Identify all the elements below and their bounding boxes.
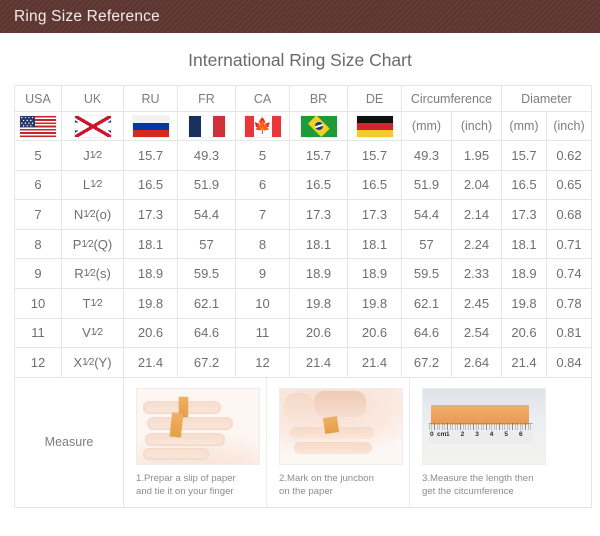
us-flag-icon <box>20 116 56 137</box>
cell-ru: 16.5 <box>124 170 178 200</box>
cell-ca: 12 <box>236 348 290 378</box>
ca-flag-icon: 🍁 <box>245 116 281 137</box>
table-row: 7N1⁄2(o)17.354.4717.317.354.42.1417.30.6… <box>15 200 592 230</box>
cell-circumference-inch: 2.45 <box>452 288 502 318</box>
column-header-fr: FR <box>178 86 236 112</box>
cell-diameter-mm: 17.3 <box>502 200 547 230</box>
cell-br: 16.5 <box>290 170 348 200</box>
table-row: 5J1⁄215.749.3515.715.749.31.9515.70.62 <box>15 141 592 171</box>
measure-steps-cell: 1.Prepar a slip of paper and tie it on y… <box>124 377 592 507</box>
ruler-ticks <box>429 423 533 430</box>
flag-cell-br <box>290 112 348 141</box>
cell-br: 17.3 <box>290 200 348 230</box>
flag-cell-ca: 🍁 <box>236 112 290 141</box>
unit-header-diameter-inch: (inch) <box>547 112 592 141</box>
uk-fraction: 1⁄2 <box>82 357 94 368</box>
flag-cell-fr <box>178 112 236 141</box>
cell-fr: 49.3 <box>178 141 236 171</box>
flag-cell-ru <box>124 112 178 141</box>
column-header-usa: USA <box>15 86 62 112</box>
cell-circumference-mm: 57 <box>402 229 452 259</box>
cell-diameter-inch: 0.65 <box>547 170 592 200</box>
br-flag-icon <box>301 116 337 137</box>
column-header-circumference: Circumference <box>402 86 502 112</box>
column-header-diameter: Diameter <box>502 86 592 112</box>
cell-diameter-mm: 18.9 <box>502 259 547 289</box>
cell-diameter-inch: 0.74 <box>547 259 592 289</box>
cell-uk: T1⁄2 <box>62 288 124 318</box>
cell-ru: 20.6 <box>124 318 178 348</box>
measure-label: Measure <box>15 377 124 507</box>
paper-strip <box>431 405 529 425</box>
ring-size-table: USA UK RU FR CA BR DE Circumference Diam… <box>14 85 592 508</box>
cell-ru: 18.1 <box>124 229 178 259</box>
ring-size-reference-page: Ring Size Reference International Ring S… <box>0 0 600 536</box>
step-1-caption: 1.Prepar a slip of paper and tie it on y… <box>136 473 266 499</box>
step-2-caption-line1: 2.Mark on the juncbon <box>279 473 374 484</box>
cell-diameter-inch: 0.81 <box>547 318 592 348</box>
table-row: 10T1⁄219.862.11019.819.862.12.4519.80.78 <box>15 288 592 318</box>
ruler-label-1: 1 <box>446 431 450 438</box>
cell-diameter-mm: 21.4 <box>502 348 547 378</box>
table-header-flag-row: 🍁 (mm) (inch) (mm) (inch) <box>15 112 592 141</box>
cell-circumference-inch: 2.64 <box>452 348 502 378</box>
uk-letter: V <box>82 325 91 340</box>
uk-fraction: 1⁄2 <box>90 298 102 309</box>
flag-cell-usa <box>15 112 62 141</box>
cell-fr: 64.6 <box>178 318 236 348</box>
ruler-label-2: 2 <box>461 431 465 438</box>
cell-uk: V1⁄2 <box>62 318 124 348</box>
column-header-de: DE <box>348 86 402 112</box>
cell-de: 16.5 <box>348 170 402 200</box>
cell-diameter-mm: 16.5 <box>502 170 547 200</box>
cell-ru: 19.8 <box>124 288 178 318</box>
cell-usa: 12 <box>15 348 62 378</box>
cell-diameter-mm: 15.7 <box>502 141 547 171</box>
step-3-caption-line1: 3.Measure the length then <box>422 473 533 484</box>
table-container: USA UK RU FR CA BR DE Circumference Diam… <box>0 85 600 508</box>
uk-fraction: 1⁄2 <box>90 150 102 161</box>
cell-usa: 5 <box>15 141 62 171</box>
step-2-caption-line2: on the paper <box>279 486 333 497</box>
cell-uk: X1⁄2(Y) <box>62 348 124 378</box>
cell-usa: 11 <box>15 318 62 348</box>
cell-de: 18.9 <box>348 259 402 289</box>
cell-ca: 6 <box>236 170 290 200</box>
uk-flag-icon <box>75 116 111 137</box>
cell-ca: 10 <box>236 288 290 318</box>
step-3-caption: 3.Measure the length then get the citcum… <box>422 473 552 499</box>
uk-fraction: 1⁄2 <box>81 239 93 250</box>
uk-suffix: (Q) <box>93 237 112 252</box>
cell-ru: 17.3 <box>124 200 178 230</box>
step-1-caption-line2: and tie it on your finger <box>136 486 234 497</box>
cell-diameter-inch: 0.68 <box>547 200 592 230</box>
column-header-uk: UK <box>62 86 124 112</box>
cell-ru: 18.9 <box>124 259 178 289</box>
cell-br: 18.1 <box>290 229 348 259</box>
cell-ca: 11 <box>236 318 290 348</box>
cell-ca: 7 <box>236 200 290 230</box>
uk-letter: N <box>74 207 83 222</box>
cell-ru: 21.4 <box>124 348 178 378</box>
cell-uk: J1⁄2 <box>62 141 124 171</box>
flag-cell-de <box>348 112 402 141</box>
step-2-caption: 2.Mark on the juncbon on the paper <box>279 473 409 499</box>
cell-fr: 62.1 <box>178 288 236 318</box>
cell-de: 18.1 <box>348 229 402 259</box>
cell-de: 17.3 <box>348 200 402 230</box>
cell-uk: L1⁄2 <box>62 170 124 200</box>
step-1-image <box>136 388 260 465</box>
ruler-label-3: 3 <box>475 431 479 438</box>
table-row: 9R1⁄2(s)18.959.5918.918.959.52.3318.90.7… <box>15 259 592 289</box>
table-row: 6L1⁄216.551.9616.516.551.92.0416.50.65 <box>15 170 592 200</box>
cell-circumference-mm: 51.9 <box>402 170 452 200</box>
cell-circumference-mm: 62.1 <box>402 288 452 318</box>
cell-diameter-inch: 0.78 <box>547 288 592 318</box>
column-header-ru: RU <box>124 86 178 112</box>
cell-uk: N1⁄2(o) <box>62 200 124 230</box>
cell-fr: 59.5 <box>178 259 236 289</box>
cell-circumference-mm: 67.2 <box>402 348 452 378</box>
cell-diameter-mm: 19.8 <box>502 288 547 318</box>
table-header-country-row: USA UK RU FR CA BR DE Circumference Diam… <box>15 86 592 112</box>
unit-header-circumference-mm: (mm) <box>402 112 452 141</box>
cell-diameter-inch: 0.84 <box>547 348 592 378</box>
cell-de: 15.7 <box>348 141 402 171</box>
cell-ca: 8 <box>236 229 290 259</box>
cell-circumference-mm: 49.3 <box>402 141 452 171</box>
measure-step-3: 0cm123456 3.Measure the length then get … <box>410 378 552 507</box>
cell-usa: 9 <box>15 259 62 289</box>
measure-step-2: 2.Mark on the juncbon on the paper <box>267 378 409 507</box>
uk-fraction: 1⁄2 <box>91 328 103 339</box>
cell-circumference-mm: 54.4 <box>402 200 452 230</box>
cell-uk: P1⁄2(Q) <box>62 229 124 259</box>
cell-br: 19.8 <box>290 288 348 318</box>
cell-usa: 10 <box>15 288 62 318</box>
step-3-image: 0cm123456 <box>422 388 546 465</box>
column-header-ca: CA <box>236 86 290 112</box>
cell-usa: 6 <box>15 170 62 200</box>
top-bar: Ring Size Reference <box>0 0 600 33</box>
cell-circumference-inch: 2.04 <box>452 170 502 200</box>
step-1-caption-line1: 1.Prepar a slip of paper <box>136 473 236 484</box>
cell-de: 20.6 <box>348 318 402 348</box>
table-row: 8P1⁄2(Q)18.157818.118.1572.2418.10.71 <box>15 229 592 259</box>
cell-circumference-mm: 64.6 <box>402 318 452 348</box>
cell-diameter-inch: 0.71 <box>547 229 592 259</box>
cell-ca: 9 <box>236 259 290 289</box>
uk-suffix: (Y) <box>94 355 111 370</box>
uk-letter: R <box>74 266 83 281</box>
unit-header-circumference-inch: (inch) <box>452 112 502 141</box>
cell-circumference-inch: 1.95 <box>452 141 502 171</box>
cell-diameter-mm: 18.1 <box>502 229 547 259</box>
cell-circumference-inch: 2.24 <box>452 229 502 259</box>
ru-flag-icon <box>133 116 169 137</box>
ruler-numbers: 0cm123456 <box>429 431 533 441</box>
fr-flag-icon <box>189 116 225 137</box>
flag-cell-uk <box>62 112 124 141</box>
table-row: 11V1⁄220.664.61120.620.664.62.5420.60.81 <box>15 318 592 348</box>
page-title: Ring Size Reference <box>0 8 160 26</box>
cell-br: 15.7 <box>290 141 348 171</box>
cell-br: 18.9 <box>290 259 348 289</box>
uk-letter: L <box>83 177 90 192</box>
measure-row: Measure <box>15 377 592 507</box>
ruler-label-4: 4 <box>490 431 494 438</box>
cell-usa: 7 <box>15 200 62 230</box>
cell-circumference-mm: 59.5 <box>402 259 452 289</box>
measure-step-1: 1.Prepar a slip of paper and tie it on y… <box>124 378 266 507</box>
de-flag-icon <box>357 116 393 137</box>
unit-header-diameter-mm: (mm) <box>502 112 547 141</box>
uk-fraction: 1⁄2 <box>90 180 102 191</box>
cell-fr: 67.2 <box>178 348 236 378</box>
cell-fr: 57 <box>178 229 236 259</box>
cell-usa: 8 <box>15 229 62 259</box>
cell-ca: 5 <box>236 141 290 171</box>
cell-fr: 51.9 <box>178 170 236 200</box>
cell-de: 21.4 <box>348 348 402 378</box>
ruler-label-5: 5 <box>504 431 508 438</box>
ruler-label-zero: 0 <box>430 431 434 438</box>
cell-de: 19.8 <box>348 288 402 318</box>
ruler-label-6: 6 <box>519 431 523 438</box>
column-header-br: BR <box>290 86 348 112</box>
cell-uk: R1⁄2(s) <box>62 259 124 289</box>
cell-diameter-mm: 20.6 <box>502 318 547 348</box>
uk-suffix: (s) <box>96 266 111 281</box>
cell-br: 21.4 <box>290 348 348 378</box>
cell-circumference-inch: 2.33 <box>452 259 502 289</box>
measure-steps: 1.Prepar a slip of paper and tie it on y… <box>124 378 591 507</box>
cell-circumference-inch: 2.14 <box>452 200 502 230</box>
step-2-image <box>279 388 403 465</box>
chart-title: International Ring Size Chart <box>0 50 600 71</box>
step-3-caption-line2: get the citcumference <box>422 486 514 497</box>
cell-diameter-inch: 0.62 <box>547 141 592 171</box>
cell-circumference-inch: 2.54 <box>452 318 502 348</box>
cell-fr: 54.4 <box>178 200 236 230</box>
table-body: 5J1⁄215.749.3515.715.749.31.9515.70.626L… <box>15 141 592 378</box>
uk-fraction: 1⁄2 <box>84 268 96 279</box>
uk-fraction: 1⁄2 <box>83 209 95 220</box>
uk-suffix: (o) <box>95 207 111 222</box>
ruler-label-unit: cm <box>437 431 446 438</box>
table-row: 12X1⁄2(Y)21.467.21221.421.467.22.6421.40… <box>15 348 592 378</box>
cell-br: 20.6 <box>290 318 348 348</box>
uk-letter: X <box>73 355 82 370</box>
cell-ru: 15.7 <box>124 141 178 171</box>
maple-leaf-icon: 🍁 <box>253 119 272 134</box>
